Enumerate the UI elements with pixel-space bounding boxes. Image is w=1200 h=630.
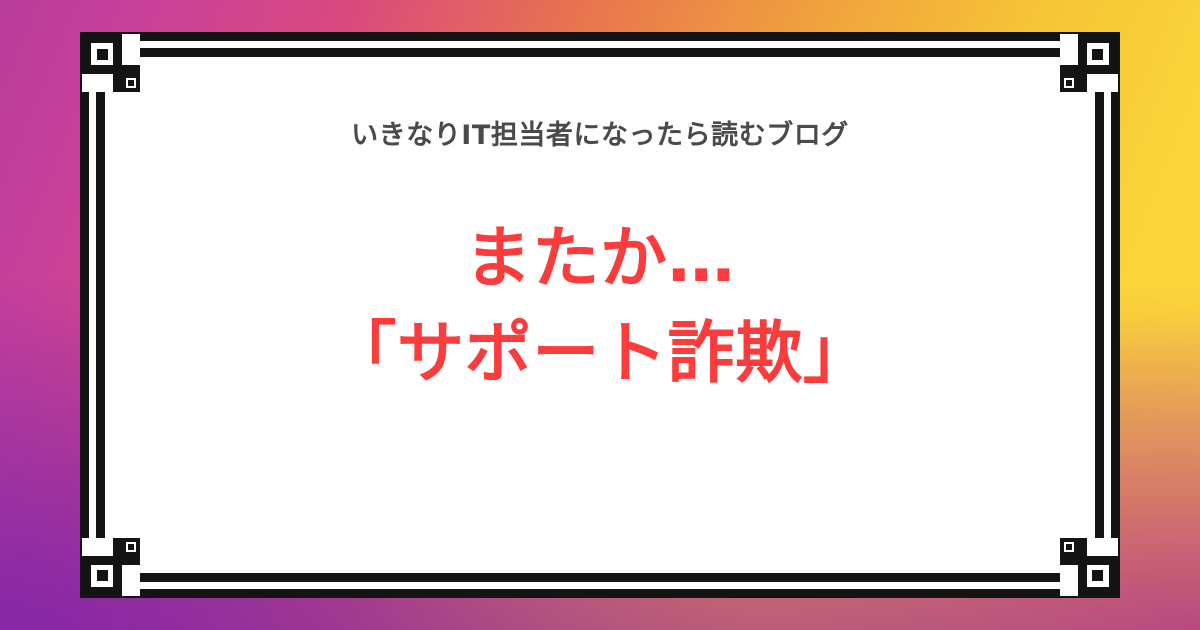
corner-ornament-top-right	[1060, 34, 1118, 92]
ogp-canvas: いきなりIT担当者になったら読むブログ またか… 「サポート詐欺」	[0, 0, 1200, 630]
content-card	[80, 32, 1120, 598]
corner-ornament-top-left	[82, 34, 140, 92]
corner-ornament-bottom-left	[82, 538, 140, 596]
corner-ornament-bottom-right	[1060, 538, 1118, 596]
